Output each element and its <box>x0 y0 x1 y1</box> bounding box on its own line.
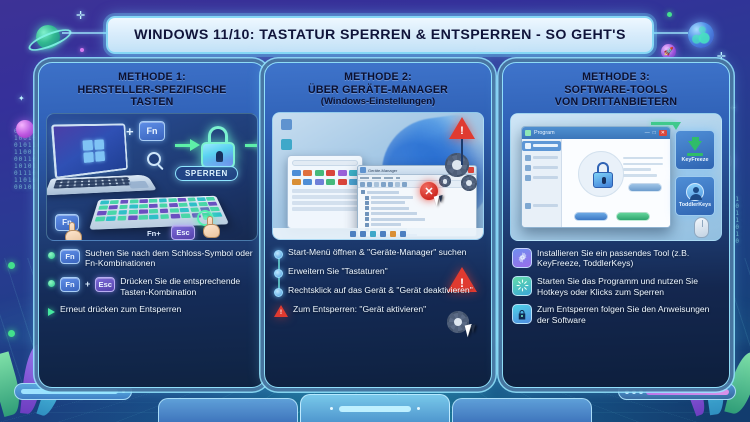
app-tile-keyfreeze[interactable]: KeyFreeze <box>675 130 715 170</box>
download-arrow-icon <box>688 141 702 151</box>
list-item-text: Erweitern Sie "Tastaturen" <box>288 266 388 277</box>
panel-2-title-line2: ÜBER GERÄTE-MANAGER <box>271 84 485 97</box>
download-tray-icon <box>687 153 703 156</box>
program-lock-button[interactable] <box>574 212 608 221</box>
list-item: Starten Sie das Programm und nutzen Sie … <box>512 276 721 297</box>
art-key-fn-label-bottom: Fn+ <box>147 229 161 238</box>
globe-planet-icon <box>688 22 714 48</box>
art-plus-top: + <box>126 124 134 139</box>
list-item-text: Installieren Sie ein passendes Tool (z.B… <box>537 248 721 269</box>
laptop-base-illustration <box>46 174 157 195</box>
panel-methode-2: METHODE 2: ÜBER GERÄTE-MANAGER (Windows-… <box>264 62 492 388</box>
bottom-bar-decoration-2 <box>300 394 450 422</box>
key-chip-esc: Esc <box>95 277 115 292</box>
program-window: Program — □ ✕ <box>521 126 671 228</box>
rocket-glyph: 🚀 <box>664 47 674 56</box>
tree-row <box>361 196 473 200</box>
sidebar-item <box>525 175 558 181</box>
laptop-touchpad-illustration <box>128 181 149 189</box>
panel-1-illustration: Fn + SPERREN Fn Fn+ Esc <box>46 113 258 241</box>
start-menu-search-bar <box>292 160 358 166</box>
close-button[interactable]: ✕ <box>659 130 667 136</box>
lock-backdrop-circle <box>578 151 624 197</box>
panel-3-title: METHODE 3: SOFTWARE-TOOLS VON DRITTANBIE… <box>503 63 729 109</box>
panel-1-title-line3: TASTEN <box>45 96 259 109</box>
lock-illustration <box>201 126 235 168</box>
page-title-text: WINDOWS 11/10: TASTATUR SPERREN & ENTSPE… <box>134 27 626 43</box>
bullet-marker-triangle <box>48 308 55 316</box>
green-dot-decoration-2 <box>8 262 15 269</box>
page-title: WINDOWS 11/10: TASTATUR SPERREN & ENTSPE… <box>106 16 654 54</box>
bullet-marker-dot <box>274 269 283 278</box>
bar-fill-left <box>21 389 118 394</box>
green-dot-decoration <box>667 12 672 17</box>
desktop-icon-1 <box>281 119 292 130</box>
program-text-lines <box>623 157 663 180</box>
app-tile-keyfreeze-label: KeyFreeze <box>682 157 709 163</box>
device-manager-toolbar[interactable] <box>358 181 476 188</box>
plus-sparkle-icon: ✛ <box>76 11 85 22</box>
panel-3-title-line2: SOFTWARE-TOOLS <box>509 84 723 97</box>
list-item-text: Start-Menü öffnen & "Geräte-Manager" suc… <box>288 247 466 258</box>
bottom-bar-decoration-3 <box>452 398 592 422</box>
panel-3-illustration: Program — □ ✕ <box>510 113 722 241</box>
art-key-esc: Esc <box>171 225 195 240</box>
bar-dot-1 <box>625 390 629 394</box>
tree-row <box>361 190 473 194</box>
panel-2-title-line1: METHODE 2: <box>271 71 485 84</box>
bar-dot-2 <box>632 390 636 394</box>
minimize-button[interactable]: — <box>645 130 650 136</box>
start-menu-recent-list <box>292 189 358 212</box>
program-secondary-button[interactable] <box>628 183 662 192</box>
bar-dot-3 <box>639 390 643 394</box>
plus-separator: + <box>85 279 90 289</box>
program-window-title: Program <box>534 130 642 136</box>
bar-fill-right <box>646 389 729 395</box>
key-chip-fn: Fn <box>60 277 80 292</box>
green-arrow-icon-1 <box>190 139 200 151</box>
rocket-badge-icon: 🚀 <box>661 44 676 59</box>
list-item: Fn + Esc Drücken Sie die entsprechende T… <box>48 276 257 297</box>
search-magnifier-icon <box>147 152 161 166</box>
list-item-text: Zum Entsperren: "Gerät aktivieren" <box>293 304 426 315</box>
desktop-icon-2 <box>281 139 292 150</box>
mouse-cursor-icon-floating <box>465 323 480 338</box>
flow-arrow-down-icon <box>671 122 681 130</box>
star-sparkle-icon-1: ✦ <box>18 95 25 103</box>
panel-methode-3: METHODE 3: SOFTWARE-TOOLS VON DRITTANBIE… <box>502 62 730 388</box>
hand-cursor-icon-1 <box>65 222 83 241</box>
laptop-screen-illustration <box>51 123 128 179</box>
list-item: Rechtsklick auf das Gerät & "Gerät deakt… <box>274 285 483 297</box>
panel-1-bullet-list: Fn Suchen Sie nach dem Schloss-Symbol od… <box>48 248 257 316</box>
saturn-planet-icon <box>36 25 60 49</box>
warning-triangle-icon: ! <box>274 305 288 317</box>
program-button-row <box>574 212 650 221</box>
list-item-text: Drücken Sie die entsprechende Tasten-Kom… <box>120 276 257 297</box>
list-item: Erweitern Sie "Tastaturen" <box>274 266 483 278</box>
warning-pin-stem <box>461 139 463 165</box>
arrow-tail-left <box>175 144 191 147</box>
panel-2-title: METHODE 2: ÜBER GERÄTE-MANAGER (Windows-… <box>265 63 491 108</box>
device-manager-title: Geräte-Manager <box>368 168 450 173</box>
panel-methode-1: METHODE 1: HERSTELLER-SPEZIFISCHE TASTEN… <box>38 62 266 388</box>
lock-body <box>201 142 235 168</box>
key-chip-fn: Fn <box>60 249 80 264</box>
magenta-dot-decoration <box>80 48 84 52</box>
bottom-bar-decoration-1 <box>158 398 298 422</box>
windows-taskbar[interactable] <box>273 228 483 239</box>
click-icon-tile <box>512 276 532 296</box>
program-window-body <box>522 139 670 228</box>
list-item-text: Erneut drücken zum Entsperren <box>60 304 181 315</box>
maximize-button[interactable]: □ <box>653 130 656 136</box>
mouse-device-illustration <box>694 217 709 238</box>
list-item: Zum Entsperren folgen Sie den Anweisunge… <box>512 304 721 325</box>
tree-row <box>361 217 473 221</box>
list-item-text: Suchen Sie nach dem Schloss-Symbol oder … <box>85 248 257 269</box>
laptop-keys-illustration <box>53 177 131 189</box>
close-button[interactable] <box>468 167 474 173</box>
list-item-text: Starten Sie das Programm und nutzen Sie … <box>537 276 721 297</box>
art-key-fn-top: Fn <box>139 121 165 141</box>
sperren-badge: SPERREN <box>175 166 238 181</box>
green-dot-decoration-3 <box>8 330 15 337</box>
list-item: Fn Suchen Sie nach dem Schloss-Symbol od… <box>48 248 257 269</box>
panel-3-title-line3: VON DRITTANBIETERN <box>509 96 723 109</box>
panel-2-bullet-list: Start-Menü öffnen & "Geräte-Manager" suc… <box>274 247 483 317</box>
sidebar-item <box>525 165 558 171</box>
panel-1-title-line2: HERSTELLER-SPEZIFISCHE <box>45 84 259 97</box>
bullet-marker-dot <box>274 288 283 297</box>
infographic-canvas: 01101001 10010110 01011010 11001001 0011… <box>0 0 750 422</box>
sidebar-item <box>525 155 558 161</box>
hand-cursor-icon-2 <box>203 216 221 238</box>
sidebar-item-active <box>522 141 561 151</box>
sidebar-item <box>525 203 558 209</box>
panel-3-title-line1: METHODE 3: <box>509 71 723 84</box>
list-item-text: Zum Entsperren folgen Sie den Anweisunge… <box>537 304 721 325</box>
lock-illustration-center <box>593 162 613 188</box>
start-menu-window <box>287 155 363 229</box>
list-item: Installieren Sie ein passendes Tool (z.B… <box>512 248 721 269</box>
tree-row <box>361 206 473 210</box>
warning-triangle-icon-art: ! <box>449 117 475 139</box>
bar-dot-a <box>330 407 333 410</box>
windows-logo-icon <box>83 139 105 163</box>
panel-2-subtitle: (Windows-Einstellungen) <box>271 96 485 108</box>
panel-1-title-line1: METHODE 1: <box>45 71 259 84</box>
panel-3-bullet-list: Installieren Sie ein passendes Tool (z.B… <box>512 248 721 326</box>
start-menu-app-grid <box>292 170 358 184</box>
list-item-text: Rechtsklick auf das Gerät & "Gerät deakt… <box>288 285 473 296</box>
person-icon <box>686 183 704 201</box>
gear-icon-large <box>445 153 469 177</box>
list-item: Start-Menü öffnen & "Geräte-Manager" suc… <box>274 247 483 259</box>
program-app-icon <box>525 130 531 136</box>
program-window-title-bar: Program — □ ✕ <box>522 127 670 139</box>
tree-row <box>361 212 473 216</box>
bar-dot-left <box>122 390 125 393</box>
purple-sphere-decoration <box>16 120 34 138</box>
program-unlock-button[interactable] <box>616 212 650 221</box>
bar-fill-center <box>339 406 411 412</box>
program-sidebar[interactable] <box>522 139 562 228</box>
list-item: ! Zum Entsperren: "Gerät aktivieren" <box>274 304 483 317</box>
lock-icon-tile <box>512 304 532 324</box>
bullet-marker-dot <box>274 250 283 259</box>
lock-body <box>593 172 613 188</box>
gear-icon-tile <box>512 248 532 268</box>
tree-row <box>361 223 473 227</box>
bar-dot-b <box>417 407 420 410</box>
tree-row <box>361 201 473 205</box>
list-item: Erneut drücken zum Entsperren <box>48 304 257 316</box>
connector-line-left <box>62 32 108 34</box>
panel-2-illustration: Geräte-Manager <box>272 112 484 240</box>
bullet-marker-dot <box>48 280 55 287</box>
bullet-marker-dot <box>48 252 55 259</box>
program-main-area <box>562 139 670 228</box>
arrow-tail-right <box>245 144 258 147</box>
app-tile-toddlerkeys-label: ToddlerKeys <box>679 202 711 208</box>
panel-1-title: METHODE 1: HERSTELLER-SPEZIFISCHE TASTEN <box>39 63 265 109</box>
app-tile-toddlerkeys[interactable]: ToddlerKeys <box>675 176 715 216</box>
